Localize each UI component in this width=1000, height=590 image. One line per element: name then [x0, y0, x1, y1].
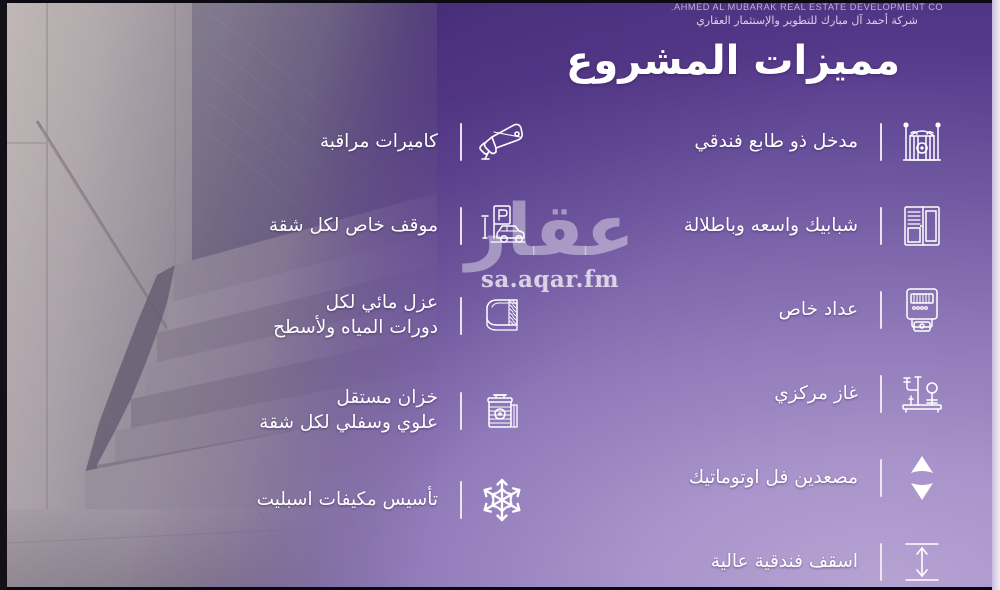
feature-label: عزل مائي لكل دورات المياه ولأسطح	[148, 291, 446, 340]
feature-item: شبابيك واسعه وباطلالة	[578, 184, 948, 268]
feature-item: كاميرات مراقبة	[148, 100, 528, 184]
feature-divider	[460, 297, 462, 335]
feature-item: عداد خاص	[578, 268, 948, 352]
parking-icon	[476, 200, 528, 252]
feature-item: موقف خاص لكل شقة	[148, 184, 528, 268]
feature-label: موقف خاص لكل شقة	[148, 214, 446, 238]
feature-divider	[880, 291, 882, 329]
feature-divider	[880, 207, 882, 245]
company-name-en: AHMED AL MUBARAK REAL ESTATE DEVELOPMENT…	[642, 2, 972, 13]
elevator-icon	[896, 452, 948, 504]
promo-slide: AHMED AL MUBARAK REAL ESTATE DEVELOPMENT…	[0, 0, 1000, 590]
gas-icon	[896, 368, 948, 420]
feature-item: مدخل ذو طابع فندقي	[578, 100, 948, 184]
feature-divider	[460, 207, 462, 245]
feature-label: عداد خاص	[578, 298, 866, 322]
feature-divider	[460, 123, 462, 161]
company-name-ar: شركة أحمد آل مبارك للتطوير والإستثمار ال…	[642, 15, 972, 28]
cctv-camera-icon	[476, 116, 528, 168]
feature-item: تأسيس مكيفات اسبليت	[148, 458, 528, 542]
feature-item: غاز مركزي	[578, 352, 948, 436]
feature-divider	[460, 481, 462, 519]
page-title: مميزات المشروع	[566, 38, 900, 84]
feature-label: اسقف فندقية عالية	[578, 550, 866, 574]
feature-divider	[880, 459, 882, 497]
frame-edge-left	[0, 0, 7, 590]
feature-label: مدخل ذو طابع فندقي	[578, 130, 866, 154]
window-icon	[896, 200, 948, 252]
gate-icon	[896, 116, 948, 168]
snowflake-icon	[476, 474, 528, 526]
feature-label: شبابيك واسعه وباطلالة	[578, 214, 866, 238]
water-tank-icon	[476, 385, 528, 437]
feature-label: خزان مستقل علوي وسفلي لكل شقة	[148, 386, 446, 435]
features-column-right: مدخل ذو طابع فندقي	[578, 100, 948, 590]
feature-divider	[880, 123, 882, 161]
feature-divider	[460, 392, 462, 430]
feature-item: مصعدين فل اوتوماتيك	[578, 436, 948, 520]
feature-divider	[880, 375, 882, 413]
frame-edge-right	[992, 0, 1000, 590]
waterproofing-icon	[476, 290, 528, 342]
feature-label: غاز مركزي	[578, 382, 866, 406]
feature-divider	[880, 543, 882, 581]
feature-item: عزل مائي لكل دورات المياه ولأسطح	[148, 268, 528, 363]
feature-label: كاميرات مراقبة	[148, 130, 446, 154]
feature-label: مصعدين فل اوتوماتيك	[578, 466, 866, 490]
feature-item: اسقف فندقية عالية	[578, 520, 948, 590]
feature-item: خزان مستقل علوي وسفلي لكل شقة	[148, 363, 528, 458]
ceiling-height-icon	[896, 536, 948, 588]
feature-label: تأسيس مكيفات اسبليت	[148, 488, 446, 512]
meter-icon	[896, 284, 948, 336]
company-header: AHMED AL MUBARAK REAL ESTATE DEVELOPMENT…	[642, 2, 972, 27]
features-column-middle: كاميرات مراقبة	[148, 100, 528, 542]
